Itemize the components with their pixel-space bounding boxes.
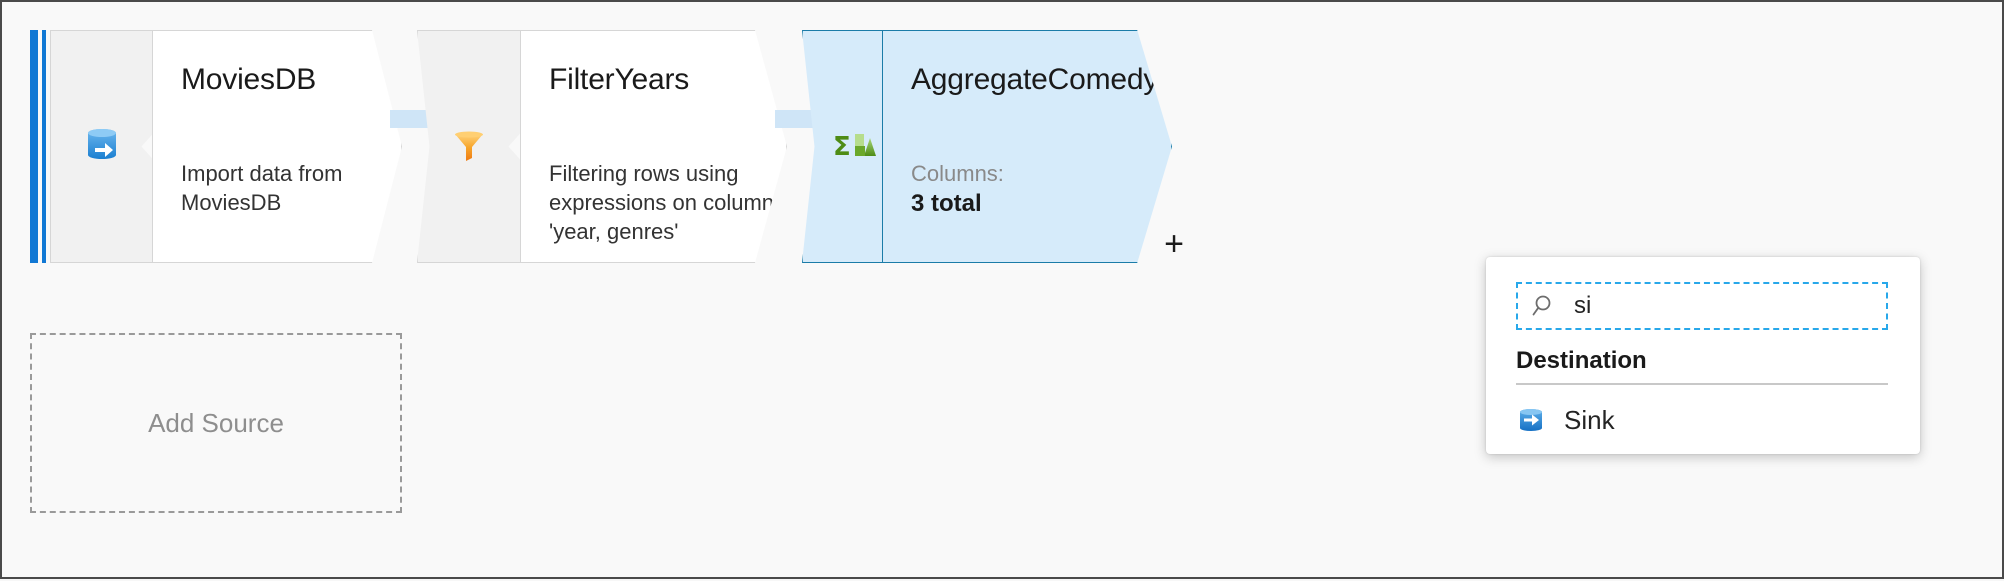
flow-node-source-moviesdb[interactable]: MoviesDB Import data from MoviesDB bbox=[30, 30, 402, 263]
database-import-icon bbox=[82, 124, 122, 169]
node-description: Import data from MoviesDB bbox=[181, 159, 446, 217]
node-title: FilterYears bbox=[549, 63, 786, 97]
sigma-aggregate-icon: Σ bbox=[831, 125, 877, 168]
node-body[interactable]: MoviesDB Import data from MoviesDB bbox=[152, 30, 402, 263]
node-title: AggregateComedyRating bbox=[911, 63, 1171, 97]
add-destination-popup: si Destination Sink bbox=[1486, 257, 1920, 454]
node-meta-label: Columns: bbox=[911, 159, 1004, 189]
node-title: MoviesDB bbox=[181, 63, 401, 97]
sink-database-icon bbox=[1516, 405, 1546, 435]
dataflow-canvas: MoviesDB Import data from MoviesDB + bbox=[0, 0, 2004, 579]
search-icon bbox=[1532, 293, 1558, 319]
add-after-aggregate-button[interactable]: + bbox=[1159, 230, 1189, 260]
node-body[interactable]: FilterYears Filtering rows using express… bbox=[520, 30, 787, 263]
node-meta-value: 3 total bbox=[911, 189, 1004, 219]
node-icon-pane bbox=[417, 30, 521, 263]
source-accent-bars bbox=[30, 30, 50, 263]
node-icon-pane bbox=[50, 30, 154, 263]
accent-bar-thin bbox=[42, 30, 46, 263]
search-input[interactable]: si bbox=[1574, 293, 1591, 319]
svg-text:Σ: Σ bbox=[833, 132, 851, 162]
add-source-placeholder[interactable]: Add Source bbox=[30, 333, 402, 513]
node-meta: Columns: 3 total bbox=[911, 159, 1004, 219]
destination-item-sink[interactable]: Sink bbox=[1516, 397, 1615, 443]
search-input-wrapper[interactable]: si bbox=[1516, 282, 1888, 330]
destination-section-heading: Destination bbox=[1516, 347, 1647, 375]
node-body[interactable]: AggregateComedyRating Columns: 3 total bbox=[882, 30, 1172, 263]
section-divider bbox=[1516, 383, 1888, 385]
add-source-label: Add Source bbox=[148, 408, 284, 439]
funnel-filter-icon bbox=[450, 125, 488, 168]
node-description: Filtering rows using expressions on colu… bbox=[549, 159, 814, 246]
accent-bar-thick bbox=[30, 30, 38, 263]
flow-node-transform-aggregatecomedyrating[interactable]: Σ AggregateComedyRating Columns: 3 total bbox=[802, 30, 1172, 263]
flow-node-transform-filteryears[interactable]: FilterYears Filtering rows using express… bbox=[417, 30, 787, 263]
destination-item-label: Sink bbox=[1564, 405, 1615, 436]
